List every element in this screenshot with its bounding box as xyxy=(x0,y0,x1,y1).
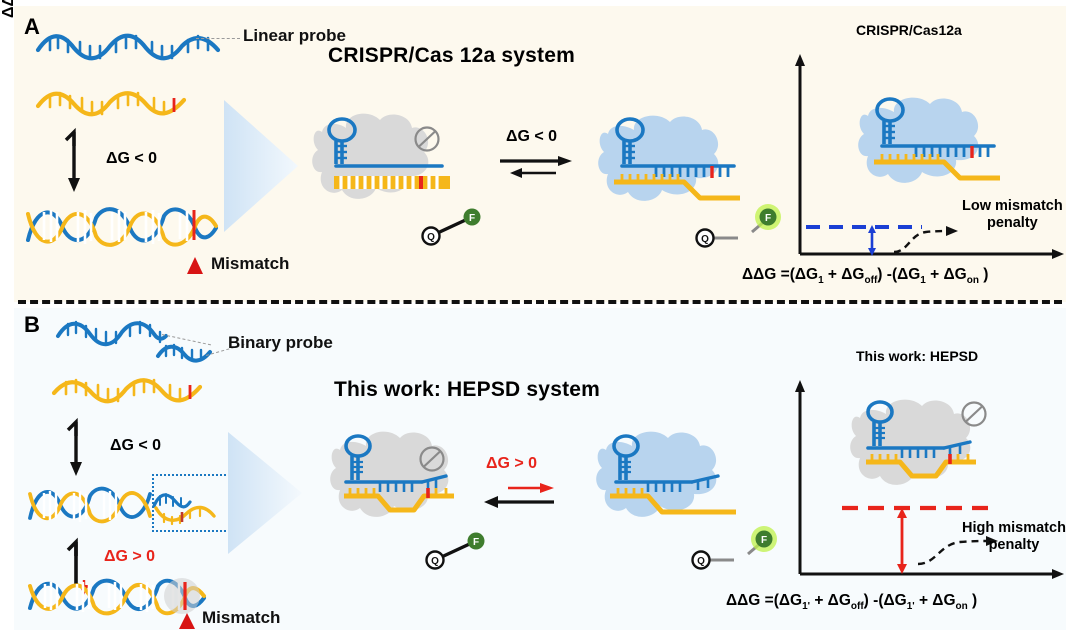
flow-wedge-a xyxy=(222,96,302,236)
eq-a-t2o: (ΔG xyxy=(892,266,920,283)
linear-probe-label: Linear probe xyxy=(243,26,346,46)
duplex-helix-a xyxy=(24,196,224,258)
panel-b-letter: B xyxy=(24,312,40,338)
fq-reporter-cleaved-a: Q F xyxy=(694,206,780,248)
mismatch-arrowhead-b xyxy=(176,612,198,630)
linear-probe-leader-line xyxy=(196,38,240,39)
chart-b-title: This work: HEPSD xyxy=(856,348,978,364)
binary-probe-strand-long xyxy=(56,316,168,348)
target-yellow-strand xyxy=(36,86,196,120)
eq-b-lhs: ΔΔG = xyxy=(726,592,774,609)
hepsd-complex-inactive-b xyxy=(318,424,478,544)
panel-b-arrow-dg: ΔG > 0 xyxy=(486,455,537,473)
svg-text:F: F xyxy=(765,213,771,224)
panel-b-mismatch-label: Mismatch xyxy=(202,608,280,628)
reaction-arrow-down-a xyxy=(52,128,100,196)
panel-a-title: CRISPR/Cas 12a system xyxy=(328,44,575,68)
eq-a-t1c: ) xyxy=(877,266,882,283)
eq-a-t1o: (ΔG xyxy=(790,266,818,283)
eq-b-t2s: 1' xyxy=(907,601,915,612)
eq-a-lhs: ΔΔG = xyxy=(742,266,790,283)
fq-reporter-intact-a: F Q xyxy=(420,208,486,244)
cas12a-complex-chart-a xyxy=(848,90,1008,210)
equilibrium-arrow-b xyxy=(478,482,568,514)
eq-b-t1s: 1' xyxy=(802,601,810,612)
chart-a-equation: ΔΔG =(ΔG1 + ΔGoff) -(ΔG1 + ΔGon ) xyxy=(742,266,988,286)
eq-b-t2s2: on xyxy=(956,601,968,612)
svg-text:Q: Q xyxy=(431,556,439,567)
eq-a-t2p: + ΔG xyxy=(926,266,967,283)
svg-text:F: F xyxy=(473,537,479,548)
panel-a-dg-label: ΔG < 0 xyxy=(106,150,157,168)
equilibrium-arrow-a xyxy=(496,152,576,182)
fq-reporter-cleaved-b: Q F xyxy=(690,528,776,570)
panel-divider xyxy=(18,300,1062,304)
flow-wedge-b xyxy=(226,428,306,558)
svg-text:Q: Q xyxy=(697,556,705,567)
chart-b-annotation-line1: High mismatch xyxy=(962,520,1066,537)
chart-a-annotation-line2: penalty xyxy=(962,215,1063,232)
eq-b-t1p: + ΔG xyxy=(810,592,851,609)
eq-a-t1s2: off xyxy=(865,275,878,286)
svg-text:Q: Q xyxy=(427,232,435,243)
eq-b-t1c: ) xyxy=(864,592,869,609)
eq-b-t2o: (ΔG xyxy=(878,592,906,609)
panel-b-dg-label-1: ΔG < 0 xyxy=(110,437,161,455)
chart-b-equation: ΔΔG =(ΔG1' + ΔGoff) -(ΔG1' + ΔGon ) xyxy=(726,592,977,612)
eq-b-t1s2: off xyxy=(851,601,864,612)
panel-b-title: This work: HEPSD system xyxy=(334,378,600,402)
target-yellow-strand-b xyxy=(52,375,212,407)
eq-b-t1o: (ΔG xyxy=(774,592,802,609)
chart-b-ylabel: ΔΔG xyxy=(0,0,18,18)
chart-b-annotation: High mismatch penalty xyxy=(962,520,1066,553)
fq-reporter-intact-b: F Q xyxy=(424,532,490,568)
chart-a-annotation-line1: Low mismatch xyxy=(962,198,1063,215)
eq-a-t2s2: on xyxy=(967,275,979,286)
svg-text:Q: Q xyxy=(701,234,709,245)
no-cleavage-prohibition-icon-b xyxy=(417,444,447,474)
linear-probe-blue-strand xyxy=(36,28,226,64)
panel-b-dg-label-2: ΔG > 0 xyxy=(104,548,155,566)
eq-b-t2p: + ΔG xyxy=(915,592,956,609)
chart-a-annotation: Low mismatch penalty xyxy=(962,198,1063,231)
mismatch-arrowhead-a xyxy=(184,255,206,275)
binary-probe-strand-short xyxy=(156,342,212,368)
svg-text:F: F xyxy=(761,535,767,546)
hepsd-complex-chart-b xyxy=(840,392,1000,510)
eq-a-t2c: ) xyxy=(979,266,988,283)
chart-b-annotation-line2: penalty xyxy=(962,537,1066,554)
figure-canvas: A Linear probe xyxy=(0,0,1080,633)
reaction-arrow-down-b1 xyxy=(56,418,102,480)
highlight-box-binary-region xyxy=(152,474,234,532)
panel-a-mismatch-label: Mismatch xyxy=(211,254,289,274)
svg-text:F: F xyxy=(469,213,475,224)
chart-a-title: CRISPR/Cas12a xyxy=(856,22,962,38)
eq-a-t1p: + ΔG xyxy=(824,266,865,283)
no-cleavage-prohibition-icon xyxy=(412,124,442,154)
binary-probe-label: Binary probe xyxy=(228,333,333,353)
panel-a-arrow-dg: ΔG < 0 xyxy=(506,128,557,146)
eq-b-t2c: ) xyxy=(968,592,977,609)
